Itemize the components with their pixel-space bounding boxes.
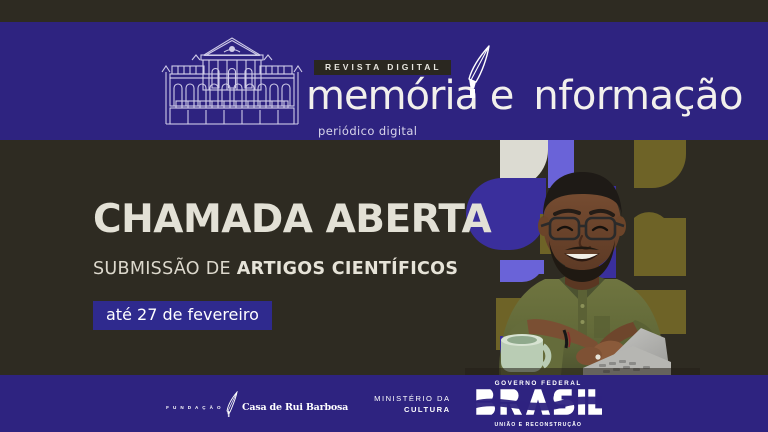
- poster-canvas: REVISTA DIGITAL memória enformação perió…: [0, 0, 768, 432]
- gov-top-label: GOVERNO FEDERAL: [475, 380, 602, 387]
- header-band: REVISTA DIGITAL memória enformação perió…: [0, 22, 768, 140]
- deadline-badge: até 27 de fevereiro: [93, 301, 272, 330]
- masthead-subtitle: periódico digital: [318, 124, 417, 138]
- logo-fundacao-casa-de-rui-barbosa: F U N D A Ç Ã O Casa de Rui Barbosa: [166, 391, 348, 417]
- quill-pen-icon: [225, 391, 239, 417]
- copy-block: CHAMADA ABERTA SUBMISSÃO DE ARTIGOS CIEN…: [93, 200, 493, 330]
- logo-ministerio-da-cultura: MINISTÉRIO DA CULTURA: [374, 393, 450, 415]
- ministry-line-2: CULTURA: [374, 404, 450, 415]
- frb-name-label: Casa de Rui Barbosa: [242, 402, 348, 413]
- logo-governo-federal-brasil: GOVERNO FEDERAL: [475, 380, 602, 428]
- ministry-line-1: MINISTÉRIO DA: [374, 393, 450, 404]
- frb-prefix-label: F U N D A Ç Ã O: [166, 405, 222, 410]
- gov-bottom-label: UNIÃO E RECONSTRUÇÃO: [475, 422, 602, 428]
- subheadline-strong: ARTIGOS CIENTÍFICOS: [237, 259, 459, 279]
- quill-pen-icon: [458, 42, 494, 102]
- neoclassical-building-icon: [148, 28, 316, 132]
- brasil-wordmark-icon: [475, 388, 602, 416]
- main-area: CHAMADA ABERTA SUBMISSÃO DE ARTIGOS CIEN…: [0, 140, 768, 375]
- masthead-text: REVISTA DIGITAL memória enformação perió…: [306, 32, 646, 138]
- masthead-title-part2: nformação: [533, 73, 743, 119]
- footer-band: F U N D A Ç Ã O Casa de Rui Barbosa MINI…: [0, 375, 768, 432]
- subheadline-prefix: SUBMISSÃO DE: [93, 259, 237, 279]
- top-strip: [0, 0, 768, 22]
- masthead-title: memória enformação: [306, 76, 743, 116]
- photo-smiling-man-at-laptop: [465, 140, 700, 375]
- subheadline: SUBMISSÃO DE ARTIGOS CIENTÍFICOS: [93, 259, 493, 279]
- headline: CHAMADA ABERTA: [93, 200, 493, 239]
